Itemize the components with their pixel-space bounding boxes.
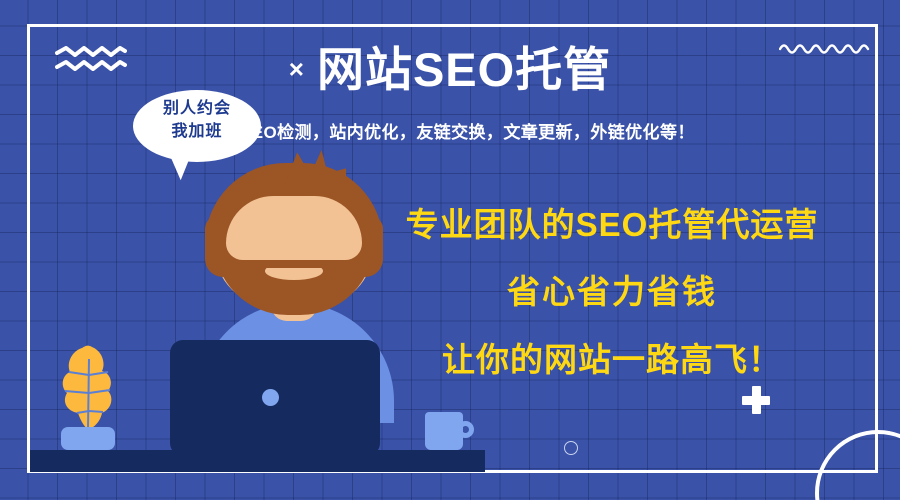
speech-bubble-line-1: 别人约会	[133, 97, 261, 120]
slogan-line-2: 省心省力省钱	[352, 265, 872, 313]
speech-bubble-line-2: 我加班	[133, 120, 261, 143]
slogan-line-1: 专业团队的SEO托管代运营	[352, 198, 872, 246]
character-forehead	[226, 196, 362, 260]
plant-pot	[61, 427, 115, 450]
slogan-line-3: 让你的网站一路高飞！	[352, 333, 872, 381]
laptop-logo-icon	[262, 389, 279, 406]
page-title: ×网站SEO托管	[0, 44, 900, 97]
desk-surface	[30, 450, 485, 472]
plus-icon	[742, 386, 770, 414]
speech-bubble-text: 别人约会 我加班	[133, 97, 261, 143]
coffee-mug	[425, 412, 463, 450]
small-circle-icon	[564, 441, 578, 455]
seo-hosting-banner: ×网站SEO托管 含：SEO检测，站内优化，友链交换，文章更新，外链优化等！ 专…	[0, 0, 900, 500]
potted-plant	[58, 345, 122, 437]
cross-mark-icon: ×	[289, 54, 305, 84]
title-text: 网站SEO托管	[317, 43, 611, 96]
